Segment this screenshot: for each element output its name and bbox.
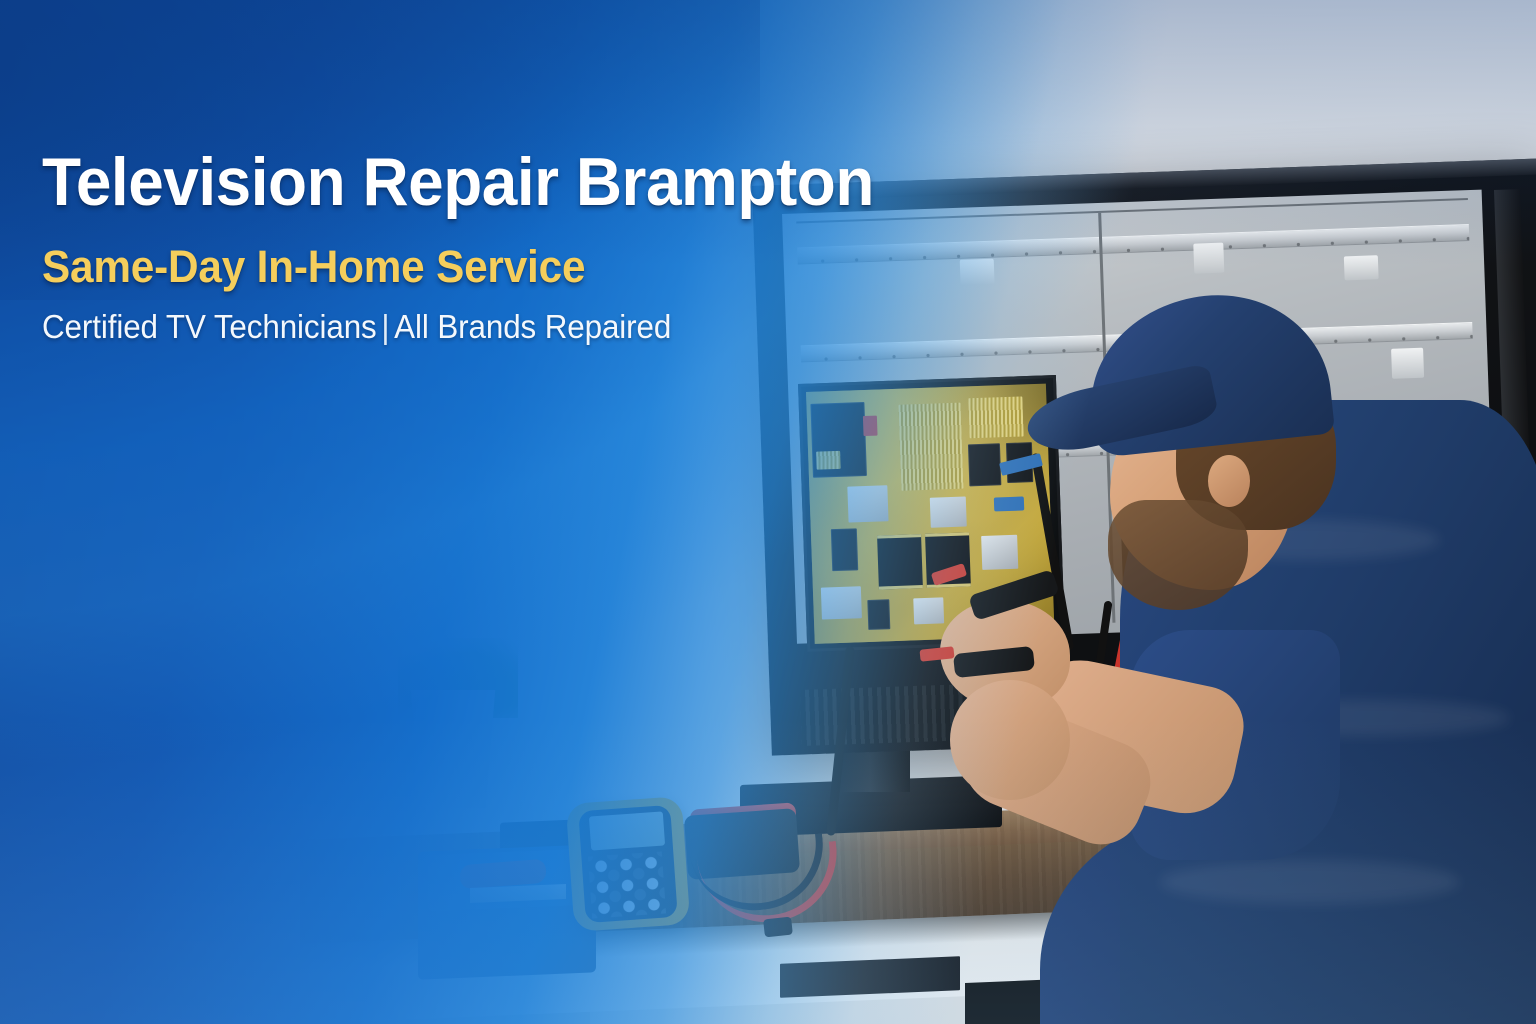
hero-copy: Television Repair Brampton Same-Day In-H… bbox=[42, 148, 902, 345]
tagline-separator: | bbox=[377, 308, 395, 345]
banner-hero: Television Repair Brampton Same-Day In-H… bbox=[0, 0, 1536, 1024]
tagline-left-text: Certified TV Technicians bbox=[42, 308, 377, 345]
tagline-right-text: All Brands Repaired bbox=[394, 308, 671, 345]
hero-tagline: Certified TV Technicians|All Brands Repa… bbox=[42, 309, 859, 345]
hero-subheadline: Same-Day In-Home Service bbox=[42, 243, 850, 290]
page-title: Television Repair Brampton bbox=[42, 148, 850, 217]
